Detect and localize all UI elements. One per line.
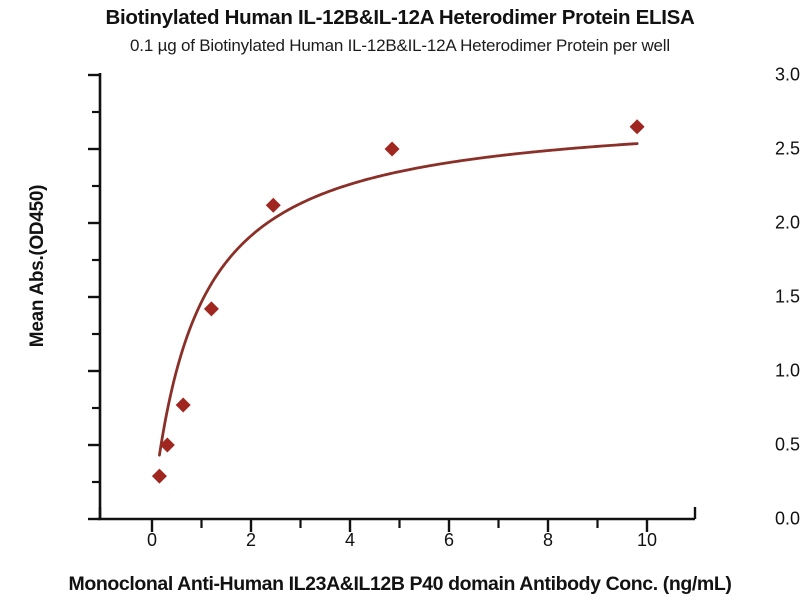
data-point-markers <box>152 119 645 483</box>
y-tick-marks <box>88 75 100 519</box>
data-point-marker <box>204 301 219 316</box>
data-point-marker <box>630 119 645 134</box>
plot-area <box>0 0 800 600</box>
fit-curve <box>159 144 637 456</box>
axis-spines <box>98 73 695 519</box>
data-point-marker <box>266 198 281 213</box>
data-point-marker <box>176 398 191 413</box>
data-point-marker <box>385 142 400 157</box>
elisa-chart-figure: Biotinylated Human IL-12B&IL-12A Heterod… <box>0 0 800 600</box>
data-point-marker <box>152 469 167 484</box>
